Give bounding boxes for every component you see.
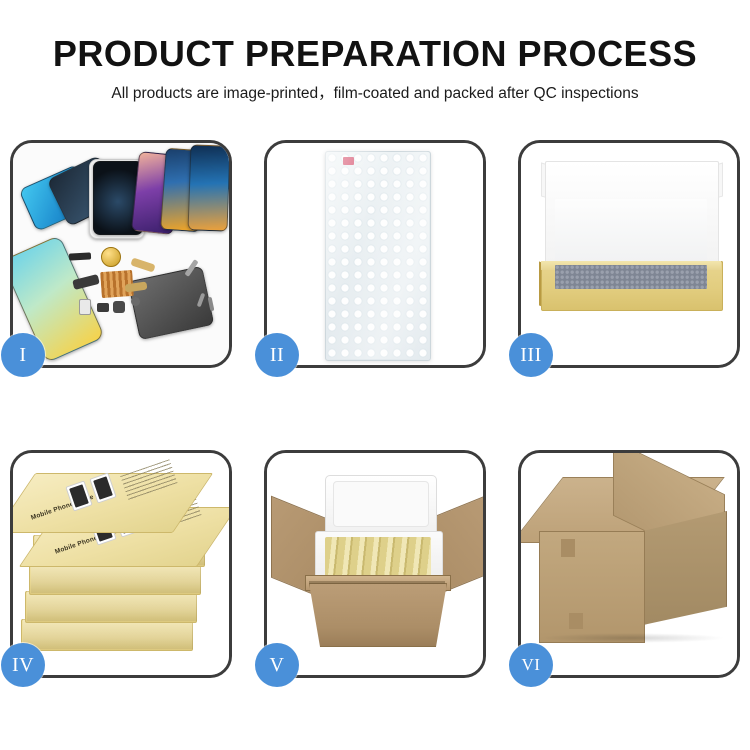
- process-step-3[interactable]: III: [518, 140, 740, 368]
- step-badge-4: IV: [1, 643, 45, 687]
- step-2-image: [267, 143, 483, 365]
- phones-and-parts-illustration: [13, 143, 229, 365]
- step-3-image: [521, 143, 737, 365]
- step-5-image: [267, 453, 483, 675]
- carton-tape-patch-bottom: [569, 613, 583, 629]
- step-badge-6: VI: [509, 643, 553, 687]
- retail-box-5: [25, 591, 197, 623]
- small-part-icon: [79, 299, 91, 315]
- small-part-3-icon: [113, 301, 125, 313]
- foam-box-lid-recess: [333, 481, 429, 527]
- bag-gloss-highlight: [325, 151, 429, 359]
- sealed-carton-illustration: [521, 453, 737, 675]
- white-foam-sheet-icon: [555, 199, 707, 267]
- page-subtitle: All products are image-printed，film-coat…: [0, 85, 750, 104]
- carton-body-icon: [309, 583, 447, 647]
- process-step-2[interactable]: II: [264, 140, 486, 368]
- bubble-wrap-illustration: [267, 143, 483, 365]
- step-6-image: [521, 453, 737, 675]
- battery-connector-icon: [69, 252, 91, 260]
- gold-flex-cable-icon: [130, 257, 155, 272]
- step-badge-2: II: [255, 333, 299, 377]
- process-step-5[interactable]: V: [264, 450, 486, 678]
- carton-side-face: [643, 511, 727, 625]
- packed-retail-boxes-icon: [325, 537, 431, 579]
- carton-tape-patch-top: [561, 539, 575, 557]
- gold-coil-icon: [101, 247, 121, 267]
- process-step-1[interactable]: I: [10, 140, 232, 368]
- open-inner-box-illustration: [521, 143, 737, 365]
- step-badge-1: I: [1, 333, 45, 377]
- small-part-2-icon: [97, 303, 109, 312]
- page-title: PRODUCT PREPARATION PROCESS: [0, 34, 750, 74]
- step-badge-3: III: [509, 333, 553, 377]
- carton-fold-line: [309, 581, 445, 584]
- process-step-6[interactable]: VI: [518, 450, 740, 678]
- retail-box-bottom: [21, 619, 193, 651]
- carton-front-face: [539, 531, 645, 643]
- process-step-4[interactable]: Mobile Phone Spare Parts Mobile Phone Sp…: [10, 450, 232, 678]
- retail-box-4: [29, 563, 201, 595]
- carton-with-foam-box-illustration: [267, 453, 483, 675]
- carton-drop-shadow: [539, 633, 725, 643]
- blue-gradient-phone-icon: [188, 144, 229, 231]
- product-preparation-infographic: PRODUCT PREPARATION PROCESS All products…: [0, 0, 750, 750]
- header: PRODUCT PREPARATION PROCESS All products…: [0, 0, 750, 103]
- small-part-4-icon: [131, 297, 140, 306]
- grey-foam-padding-icon: [555, 265, 707, 289]
- process-step-grid: I II: [10, 140, 740, 678]
- step-badge-5: V: [255, 643, 299, 687]
- step-4-image: Mobile Phone Spare Parts Mobile Phone Sp…: [13, 453, 229, 675]
- retail-box-stack-illustration: Mobile Phone Spare Parts Mobile Phone Sp…: [19, 469, 225, 659]
- step-1-image: [13, 143, 229, 365]
